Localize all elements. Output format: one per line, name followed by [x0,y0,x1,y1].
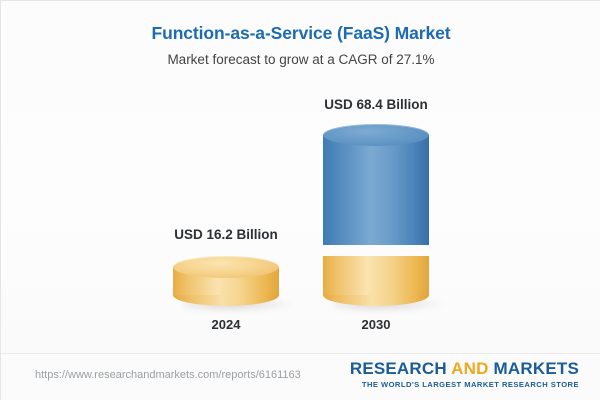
chart-card: Function-as-a-Service (FaaS) Market Mark… [0,0,600,400]
cylinder-body [323,135,429,245]
logo-word-research: RESEARCH [350,359,447,378]
logo-word-markets: MARKETS [494,359,579,378]
cylinder-body [323,256,429,295]
logo-wordmark: RESEARCH AND MARKETS [350,360,579,377]
cylinder-top-ellipse [173,256,279,278]
category-label-2030: 2030 [296,317,456,332]
category-label-2024: 2024 [146,317,306,332]
source-url[interactable]: https://www.researchandmarkets.com/repor… [35,369,301,381]
research-and-markets-logo[interactable]: RESEARCH AND MARKETS THE WORLD'S LARGEST… [350,360,579,389]
cylinder-2030 [323,124,429,306]
bar-segment-base-2024 [173,256,279,306]
chart-canvas: Function-as-a-Service (FaaS) Market Mark… [1,1,600,353]
logo-word-and: AND [451,359,488,378]
chart-footer: https://www.researchandmarkets.com/repor… [1,354,600,400]
bar-value-label-2030: USD 68.4 Billion [296,97,456,112]
bar-segment-growth-2030 [323,124,429,256]
plot-area: USD 16.2 Billion 2024 USD 68.4 Billion [1,1,600,353]
cylinder-2024 [173,256,279,306]
bar-value-label-2024: USD 16.2 Billion [146,227,306,242]
logo-tagline: THE WORLD'S LARGEST MARKET RESEARCH STOR… [350,380,579,389]
cylinder-top-ellipse [323,124,429,146]
